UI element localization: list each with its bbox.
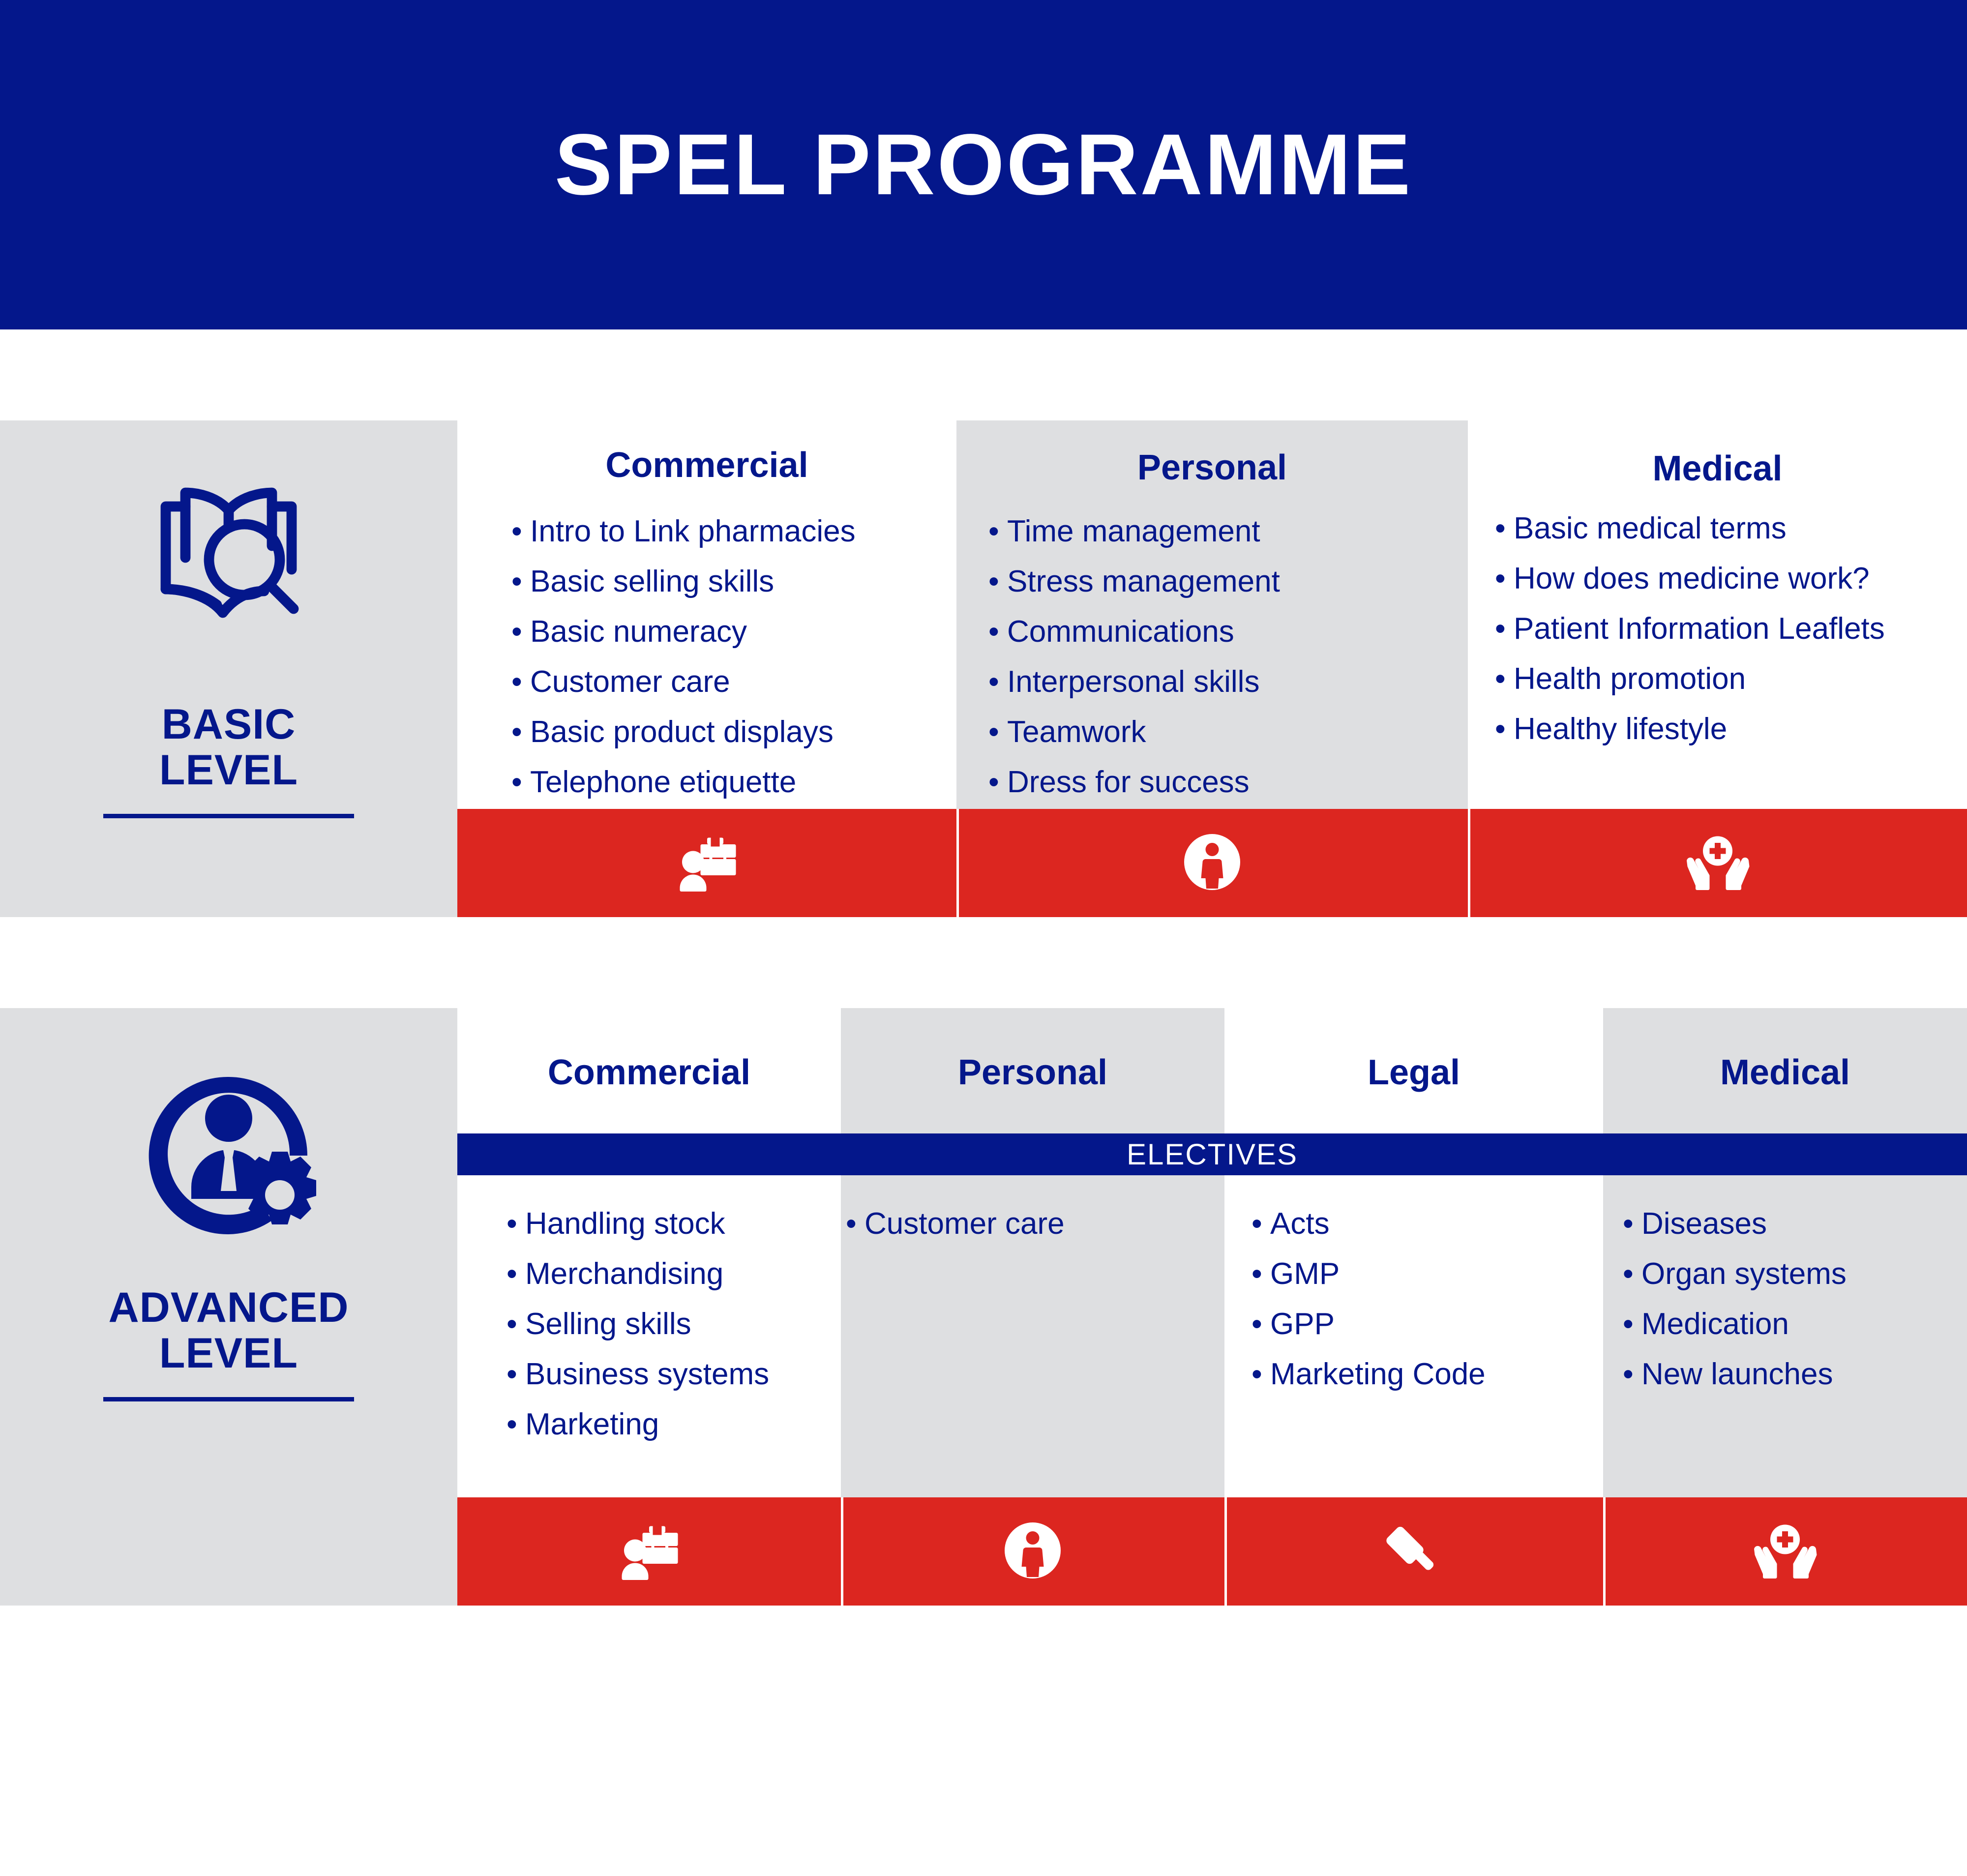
advanced-level-label-line1: ADVANCED (109, 1285, 349, 1331)
list-item-label: Handling stock (525, 1209, 725, 1239)
bullet-dot: • (988, 516, 1007, 547)
basic-column-commercial-title: Commercial (457, 447, 956, 483)
divider (956, 809, 959, 917)
list-item-label: Marketing (525, 1409, 659, 1440)
list-item-label: Basic numeracy (530, 617, 747, 647)
bullet-dot: • (1252, 1259, 1270, 1289)
list-item-label: Healthy lifestyle (1514, 714, 1727, 744)
list-item: •Basic numeracy (511, 617, 956, 647)
list-item: •New launches (1623, 1359, 1967, 1390)
list-item-label: GMP (1270, 1259, 1340, 1289)
advanced-column-personal: •Customer care (841, 1175, 1224, 1497)
bullet-dot: • (1495, 614, 1514, 644)
bullet-dot: • (1495, 664, 1514, 694)
advanced-level-label: ADVANCED LEVEL (109, 1285, 349, 1376)
bullet-dot: • (511, 667, 530, 697)
advanced-column-medical-header: Medical (1603, 1008, 1967, 1133)
list-item: •Dress for success (988, 767, 1468, 798)
divider (1224, 1497, 1227, 1606)
advanced-level-icon-strip (457, 1497, 1967, 1606)
advanced-icon-cell-personal (841, 1497, 1224, 1606)
basic-level-section: BASIC LEVEL Commercial •Intro to Link ph… (0, 420, 1967, 917)
bullet-dot: • (1623, 1259, 1641, 1289)
list-item-label: New launches (1641, 1359, 1833, 1390)
basic-level-icon-strip (457, 809, 1967, 917)
list-item-label: Customer care (530, 667, 730, 697)
list-item: •Diseases (1623, 1209, 1967, 1239)
basic-column-personal-title: Personal (956, 450, 1468, 485)
list-item: •Handling stock (507, 1209, 841, 1239)
bullet-dot: • (988, 717, 1007, 747)
list-item-label: Time management (1007, 516, 1260, 547)
bullet-dot: • (1495, 564, 1514, 594)
advanced-column-commercial-title: Commercial (457, 1055, 841, 1090)
advanced-column-medical: •Diseases •Organ systems •Medication •Ne… (1603, 1175, 1967, 1497)
list-item-label: Stress management (1007, 566, 1280, 597)
list-item: •Basic product displays (511, 717, 956, 747)
list-item-label: Patient Information Leaflets (1514, 614, 1885, 644)
list-item: •Organ systems (1623, 1259, 1967, 1289)
basic-column-commercial-list: •Intro to Link pharmacies •Basic selling… (511, 516, 956, 798)
list-item: •Interpersonal skills (988, 667, 1468, 697)
list-item: •Healthy lifestyle (1495, 714, 1967, 744)
page-header: SPEL PROGRAMME (0, 0, 1967, 329)
hands-cross-icon (1681, 825, 1755, 901)
bullet-dot: • (1623, 1359, 1641, 1390)
bullet-dot: • (1252, 1359, 1270, 1390)
bullet-dot: • (511, 516, 530, 547)
divider (841, 1497, 843, 1606)
basic-column-personal-list: •Time management •Stress management •Com… (988, 516, 1468, 798)
basic-level-label-line1: BASIC (159, 702, 298, 747)
bullet-dot: • (1623, 1209, 1641, 1239)
level-spacer (0, 917, 1967, 1008)
person-briefcase-icon (612, 1514, 686, 1590)
advanced-column-personal-header: Personal (841, 1008, 1224, 1133)
basic-icon-cell-personal (956, 809, 1468, 917)
bullet-dot: • (507, 1209, 525, 1239)
list-item: •GPP (1252, 1309, 1603, 1340)
list-item: •Acts (1252, 1209, 1603, 1239)
list-item: •Intro to Link pharmacies (511, 516, 956, 547)
list-item-label: GPP (1270, 1309, 1335, 1340)
list-item: •Basic medical terms (1495, 513, 1967, 544)
bullet-dot: • (1495, 714, 1514, 744)
person-gear-circle-icon (130, 1057, 327, 1256)
bullet-dot: • (511, 617, 530, 647)
advanced-column-personal-title: Personal (841, 1055, 1224, 1090)
list-item-label: Marketing Code (1270, 1359, 1486, 1390)
bullet-dot: • (988, 566, 1007, 597)
list-item-label: Basic product displays (530, 717, 834, 747)
advanced-icon-cell-commercial (457, 1497, 841, 1606)
bullet-dot: • (988, 767, 1007, 798)
bullet-dot: • (511, 767, 530, 798)
bullet-dot: • (507, 1359, 525, 1390)
basic-column-medical-list: •Basic medical terms •How does medicine … (1495, 513, 1967, 744)
advanced-column-personal-list: •Customer care (846, 1209, 1224, 1239)
list-item-label: Basic selling skills (530, 566, 774, 597)
list-item: •Telephone etiquette (511, 767, 956, 798)
basic-level-sidebar: BASIC LEVEL (0, 420, 457, 917)
list-item: •Business systems (507, 1359, 841, 1390)
list-item-label: Merchandising (525, 1259, 723, 1289)
list-item-label: Telephone etiquette (530, 767, 796, 798)
bullet-dot: • (1623, 1309, 1641, 1340)
person-circle-icon (1175, 825, 1249, 901)
list-item: •Customer care (846, 1209, 1224, 1239)
header-spacer (0, 329, 1967, 420)
list-item-label: Communications (1007, 617, 1234, 647)
list-item-label: Business systems (525, 1359, 769, 1390)
list-item-label: Dress for success (1007, 767, 1250, 798)
advanced-level-label-line2: LEVEL (109, 1331, 349, 1376)
divider (1603, 1497, 1606, 1606)
advanced-icon-cell-medical (1603, 1497, 1967, 1606)
advanced-icon-cell-legal (1224, 1497, 1603, 1606)
list-item-label: Teamwork (1007, 717, 1146, 747)
basic-level-label: BASIC LEVEL (159, 702, 298, 793)
bullet-dot: • (507, 1309, 525, 1340)
person-circle-icon (996, 1514, 1070, 1590)
advanced-column-legal: •Acts •GMP •GPP •Marketing Code (1224, 1175, 1603, 1497)
book-magnifier-icon (130, 467, 327, 666)
basic-level-columns: Commercial •Intro to Link pharmacies •Ba… (457, 420, 1967, 809)
basic-column-medical-title: Medical (1468, 451, 1967, 486)
bullet-dot: • (511, 717, 530, 747)
list-item: •Teamwork (988, 717, 1468, 747)
advanced-column-commercial: •Handling stock •Merchandising •Selling … (457, 1175, 841, 1497)
bullet-dot: • (1252, 1209, 1270, 1239)
list-item: •Patient Information Leaflets (1495, 614, 1967, 644)
list-item-label: Selling skills (525, 1309, 691, 1340)
list-item-label: Acts (1270, 1209, 1330, 1239)
list-item: •Marketing Code (1252, 1359, 1603, 1390)
list-item: •Marketing (507, 1409, 841, 1440)
basic-column-commercial: Commercial •Intro to Link pharmacies •Ba… (457, 420, 956, 809)
advanced-column-legal-list: •Acts •GMP •GPP •Marketing Code (1252, 1209, 1603, 1390)
bullet-dot: • (507, 1409, 525, 1440)
list-item: •Stress management (988, 566, 1468, 597)
bullet-dot: • (846, 1209, 864, 1239)
gavel-icon (1377, 1514, 1451, 1590)
list-item: •Communications (988, 617, 1468, 647)
advanced-column-legal-title: Legal (1224, 1055, 1603, 1090)
bullet-dot: • (1252, 1309, 1270, 1340)
list-item: •Medication (1623, 1309, 1967, 1340)
advanced-column-medical-list: •Diseases •Organ systems •Medication •Ne… (1623, 1209, 1967, 1390)
list-item: •Time management (988, 516, 1468, 547)
list-item: •Health promotion (1495, 664, 1967, 694)
advanced-level-underline (103, 1397, 354, 1401)
list-item: •Customer care (511, 667, 956, 697)
basic-icon-cell-commercial (457, 809, 956, 917)
hands-cross-icon (1748, 1514, 1822, 1590)
list-item-label: Medication (1641, 1309, 1789, 1340)
list-item: •Merchandising (507, 1259, 841, 1289)
bullet-dot: • (1495, 513, 1514, 544)
list-item: •Basic selling skills (511, 566, 956, 597)
list-item-label: Organ systems (1641, 1259, 1847, 1289)
advanced-column-commercial-list: •Handling stock •Merchandising •Selling … (507, 1209, 841, 1440)
list-item-label: Health promotion (1514, 664, 1746, 694)
page-title: SPEL PROGRAMME (555, 121, 1413, 208)
list-item-label: Interpersonal skills (1007, 667, 1259, 697)
basic-column-personal: Personal •Time management •Stress manage… (956, 420, 1468, 809)
electives-label: ELECTIVES (1127, 1140, 1298, 1169)
basic-icon-cell-medical (1468, 809, 1967, 917)
advanced-level-section: ADVANCED LEVEL Commercial Personal Legal… (0, 1008, 1967, 1606)
bullet-dot: • (511, 566, 530, 597)
bullet-dot: • (507, 1259, 525, 1289)
person-briefcase-icon (670, 825, 744, 901)
advanced-level-sidebar: ADVANCED LEVEL (0, 1008, 457, 1606)
list-item: •How does medicine work? (1495, 564, 1967, 594)
advanced-column-commercial-header: Commercial (457, 1008, 841, 1133)
bullet-dot: • (988, 617, 1007, 647)
list-item-label: How does medicine work? (1514, 564, 1870, 594)
basic-level-underline (103, 814, 354, 818)
basic-level-label-line2: LEVEL (159, 747, 298, 793)
advanced-column-medical-title: Medical (1603, 1055, 1967, 1090)
list-item-label: Intro to Link pharmacies (530, 516, 856, 547)
basic-column-medical: Medical •Basic medical terms •How does m… (1468, 420, 1967, 809)
advanced-column-legal-header: Legal (1224, 1008, 1603, 1133)
electives-band: ELECTIVES (457, 1133, 1967, 1175)
list-item-label: Diseases (1641, 1209, 1767, 1239)
list-item: •Selling skills (507, 1309, 841, 1340)
list-item-label: Customer care (864, 1209, 1065, 1239)
divider (1468, 809, 1470, 917)
list-item: •GMP (1252, 1259, 1603, 1289)
list-item-label: Basic medical terms (1514, 513, 1787, 544)
advanced-level-columns: Commercial Personal Legal Medical •Handl… (457, 1008, 1967, 1497)
bullet-dot: • (988, 667, 1007, 697)
